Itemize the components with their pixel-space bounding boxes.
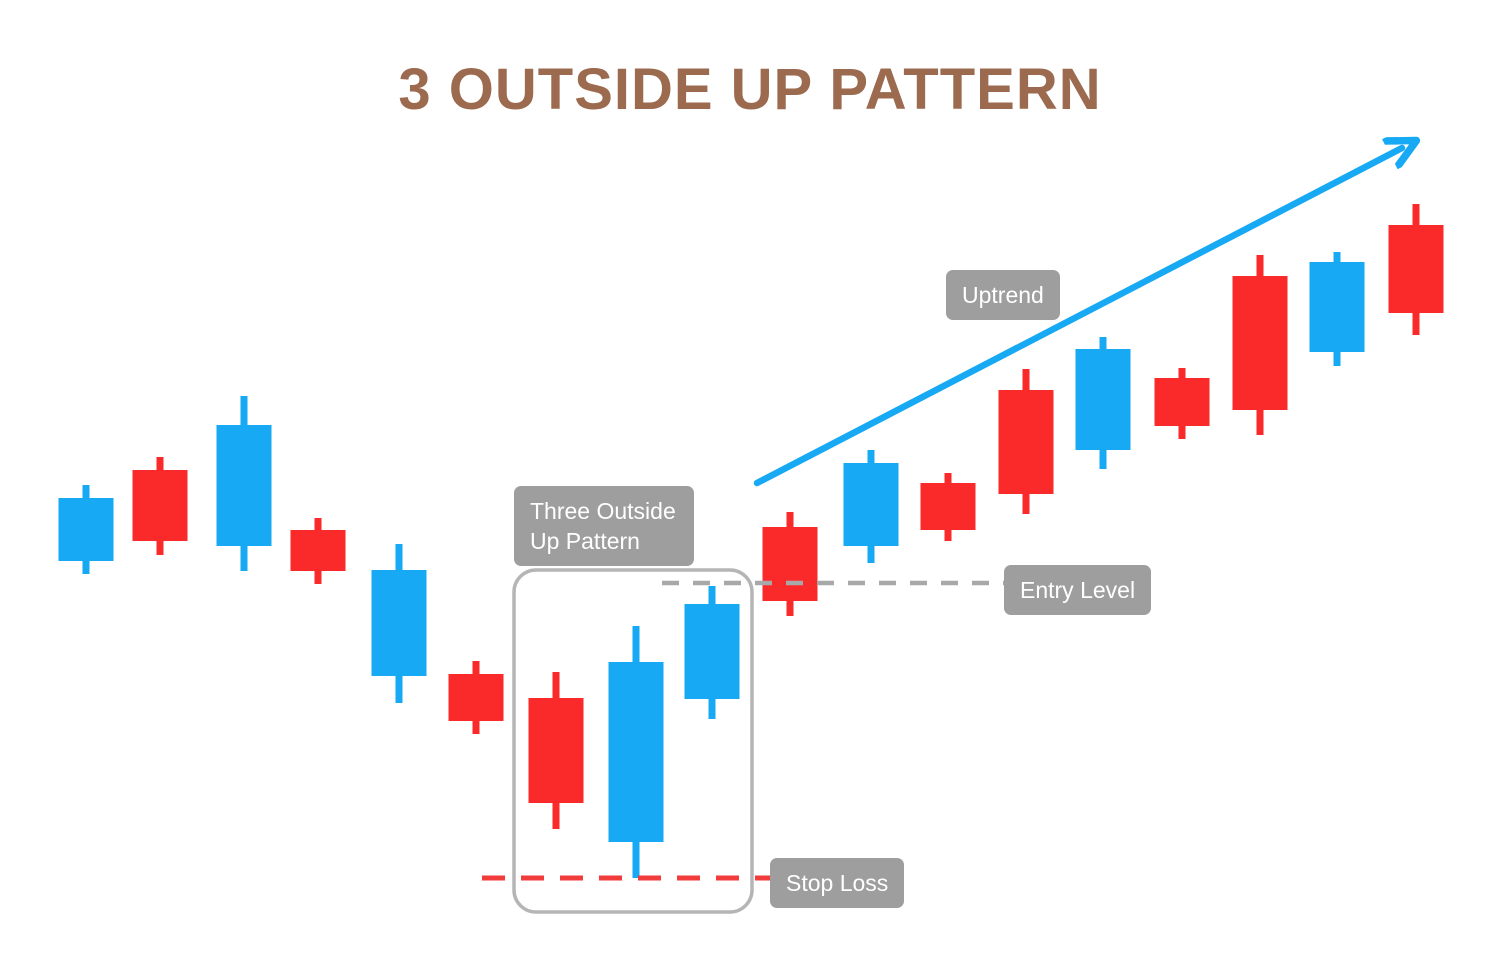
candle-body	[529, 698, 584, 803]
candlestick-pattern-diagram: 3 OUTSIDE UP PATTERN Three Outside Up Pa…	[0, 0, 1500, 974]
candlestick-10	[763, 512, 818, 616]
candle-body	[1310, 262, 1365, 352]
candlestick-6	[449, 661, 504, 734]
candle-body	[1155, 378, 1210, 426]
candlestick-18	[1389, 204, 1444, 335]
candlestick-15	[1155, 368, 1210, 439]
candlestick-4	[291, 518, 346, 584]
candlestick-1	[59, 485, 114, 574]
candlestick-14	[1076, 337, 1131, 469]
candlestick-7	[529, 672, 584, 829]
candle-body	[1389, 225, 1444, 313]
label-three-outside-up-pattern: Three Outside Up Pattern	[514, 486, 694, 566]
candle-body	[763, 527, 818, 601]
label-stop-loss: Stop Loss	[770, 858, 904, 908]
label-uptrend: Uptrend	[946, 270, 1060, 320]
candle-body	[133, 470, 188, 541]
candlestick-16	[1233, 255, 1288, 435]
candle-body	[609, 662, 664, 842]
candle-body	[685, 604, 740, 699]
candlestick-5	[372, 544, 427, 703]
candlestick-11	[844, 450, 899, 563]
candle-body	[449, 674, 504, 721]
candle-body	[372, 570, 427, 676]
candle-body	[217, 425, 272, 546]
candlestick-3	[217, 396, 272, 571]
candlestick-13	[999, 369, 1054, 514]
candle-body	[844, 463, 899, 546]
candlestick-8	[609, 626, 664, 878]
candle-body	[59, 498, 114, 561]
candlestick-9	[685, 586, 740, 719]
candlestick-2	[133, 457, 188, 555]
label-entry-level: Entry Level	[1004, 565, 1151, 615]
candlestick-17	[1310, 252, 1365, 366]
candle-body	[921, 483, 976, 530]
candle-body	[1233, 276, 1288, 410]
candlestick-plot	[0, 0, 1500, 974]
candle-body	[291, 530, 346, 571]
candlestick-12	[921, 473, 976, 541]
candle-body	[1076, 349, 1131, 450]
candle-body	[999, 390, 1054, 494]
